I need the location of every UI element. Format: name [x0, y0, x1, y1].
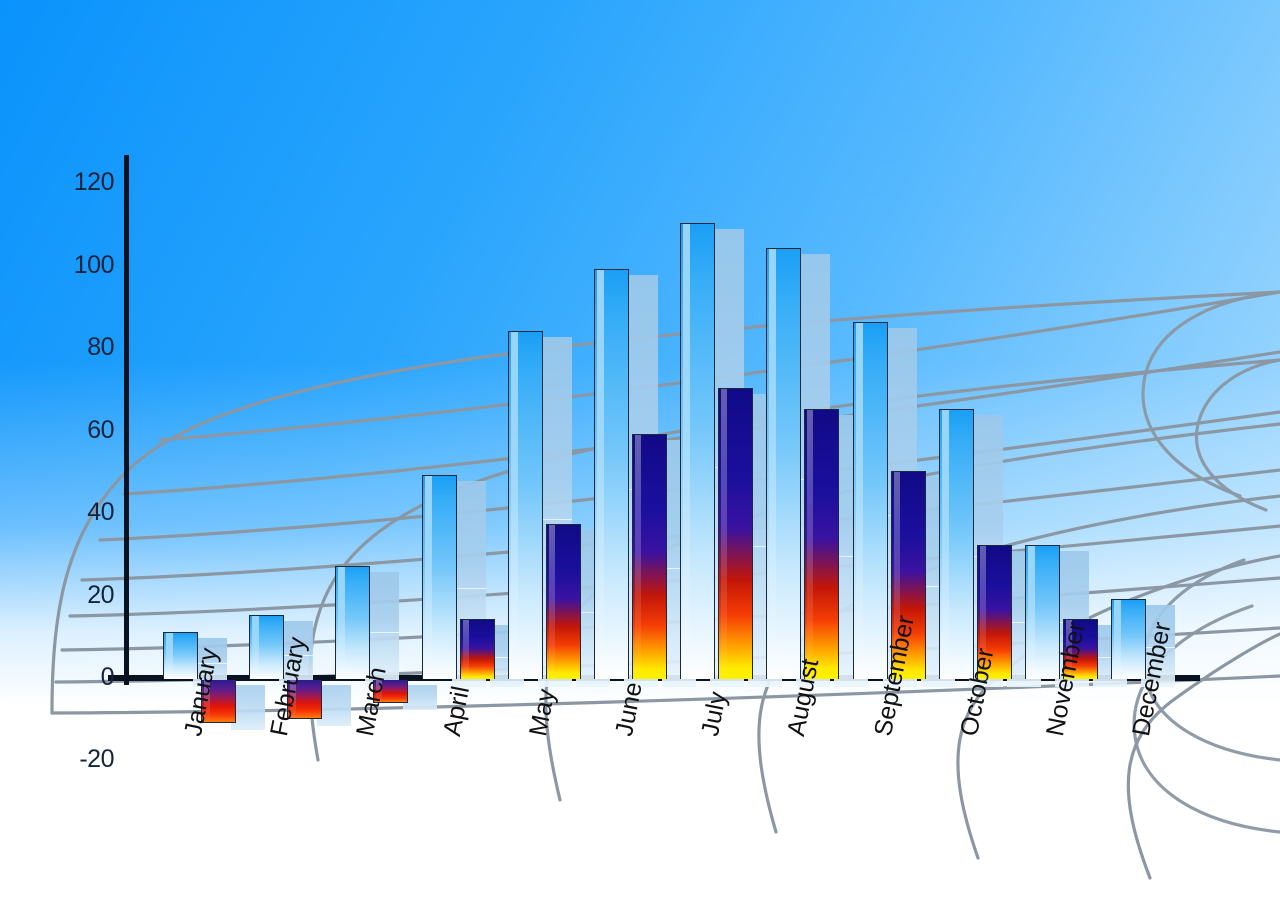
bar-shadow — [403, 685, 437, 710]
bar-june-blue[interactable] — [594, 269, 629, 679]
bar-october-blue[interactable] — [939, 409, 974, 679]
bar-may-fire[interactable] — [546, 524, 581, 679]
bar-shadow — [231, 685, 265, 730]
bar-april-blue[interactable] — [422, 475, 457, 679]
bar-march-blue[interactable] — [335, 566, 370, 679]
bar-may-blue[interactable] — [508, 331, 543, 680]
bar-group-container — [0, 0, 1280, 905]
bar-august-fire[interactable] — [804, 409, 839, 679]
bar-april-fire[interactable] — [460, 619, 495, 679]
bar-june-fire[interactable] — [632, 434, 667, 679]
bar-september-blue[interactable] — [853, 322, 888, 679]
bar-july-fire[interactable] — [718, 388, 753, 679]
bar-august-blue[interactable] — [766, 248, 801, 679]
bar-july-blue[interactable] — [680, 223, 715, 679]
bar-shadow — [317, 685, 351, 726]
chart-canvas: 120 100 80 60 40 20 0 -20 JanuaryFebruar… — [0, 0, 1280, 905]
